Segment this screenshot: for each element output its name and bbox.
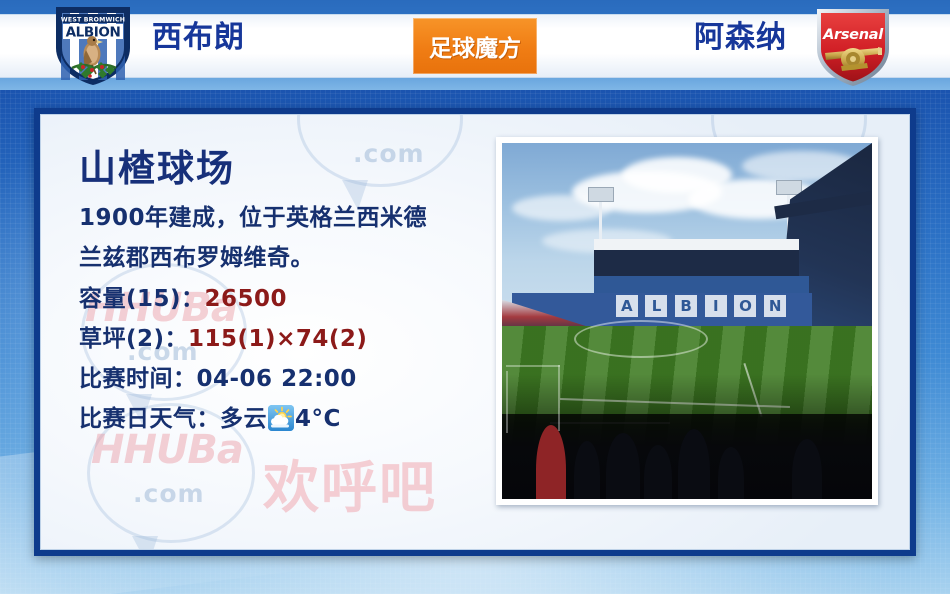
goal-frame — [506, 371, 508, 433]
watermark-domain-low: .com — [133, 479, 205, 508]
seat-letter: N — [764, 295, 786, 317]
stadium-photo: A L B I O N — [502, 143, 872, 499]
match-header: WEST BROMWICH ALBION — [0, 0, 950, 90]
weather-row: 比赛日天气：多云4°C — [79, 399, 509, 439]
capacity-label: 容量(15)： — [79, 286, 205, 312]
stadium-description-line-1: 1900年建成，位于英格兰西米德 — [79, 199, 499, 237]
weather-temp: 4°C — [295, 406, 341, 432]
stadium-description-line-2: 兰兹郡西布罗姆维奇。 — [79, 239, 499, 277]
stadium-title: 山楂球场 — [79, 147, 509, 191]
goal-frame — [506, 365, 560, 367]
west-bromwich-albion-badge-icon: WEST BROMWICH ALBION — [52, 4, 134, 88]
seat-letter: B — [675, 295, 697, 317]
seat-letter: A — [616, 295, 638, 317]
photo-main-stand-shade — [594, 250, 799, 278]
pitch-value: 115(1)×74(2) — [188, 326, 367, 352]
watermark-brand-cn-low: 欢呼吧 — [263, 443, 437, 524]
site-logo-text: 足球魔方 — [429, 29, 521, 63]
match-time-value: 04-06 22:00 — [197, 366, 357, 392]
stadium-info-text: 山楂球场 1900年建成，位于英格兰西米德 兰兹郡西布罗姆维奇。 容量(15)：… — [79, 147, 509, 439]
floodlight-head — [776, 180, 802, 195]
stadium-info-card-page: WEST BROMWICH ALBION — [0, 0, 950, 594]
seat-letter: L — [645, 295, 667, 317]
away-team-crest[interactable]: Arsenal — [812, 4, 894, 88]
photo-main-stand-roof — [594, 239, 799, 250]
weather-label: 比赛日天气： — [79, 406, 220, 432]
floodlight-head — [588, 187, 614, 202]
photo-seat-lettering: A L B I O N — [612, 295, 790, 317]
weather-condition: 多云 — [220, 406, 267, 432]
sun-behind-cloud-icon — [268, 404, 294, 430]
seat-letter: I — [705, 295, 727, 317]
home-team-name: 西布朗 — [152, 21, 245, 55]
svg-text:WEST BROMWICH: WEST BROMWICH — [61, 16, 125, 23]
capacity-value: 26500 — [205, 286, 288, 312]
stadium-photo-frame[interactable]: A L B I O N — [496, 137, 878, 505]
site-logo[interactable]: 足球魔方 — [413, 18, 537, 74]
stadium-info-card: .com HHUBa .com HHUBa .com 欢呼吧 .com 山楂球场… — [34, 108, 916, 556]
home-team-crest[interactable]: WEST BROMWICH ALBION — [52, 4, 134, 88]
capacity-row: 容量(15)：26500 — [79, 279, 509, 319]
away-team-name: 阿森纳 — [694, 21, 787, 55]
arsenal-badge-icon: Arsenal — [812, 4, 894, 88]
svg-text:Arsenal: Arsenal — [822, 27, 884, 43]
pitch-row: 草坪(2)：115(1)×74(2) — [79, 319, 509, 359]
goal-frame — [558, 365, 560, 431]
match-time-label: 比赛时间： — [79, 366, 197, 392]
pitch-label: 草坪(2)： — [79, 326, 188, 352]
stadium-info-card-inner: .com HHUBa .com HHUBa .com 欢呼吧 .com 山楂球场… — [40, 114, 910, 550]
seat-letter: O — [734, 295, 756, 317]
match-time-row: 比赛时间：04-06 22:00 — [79, 359, 509, 399]
